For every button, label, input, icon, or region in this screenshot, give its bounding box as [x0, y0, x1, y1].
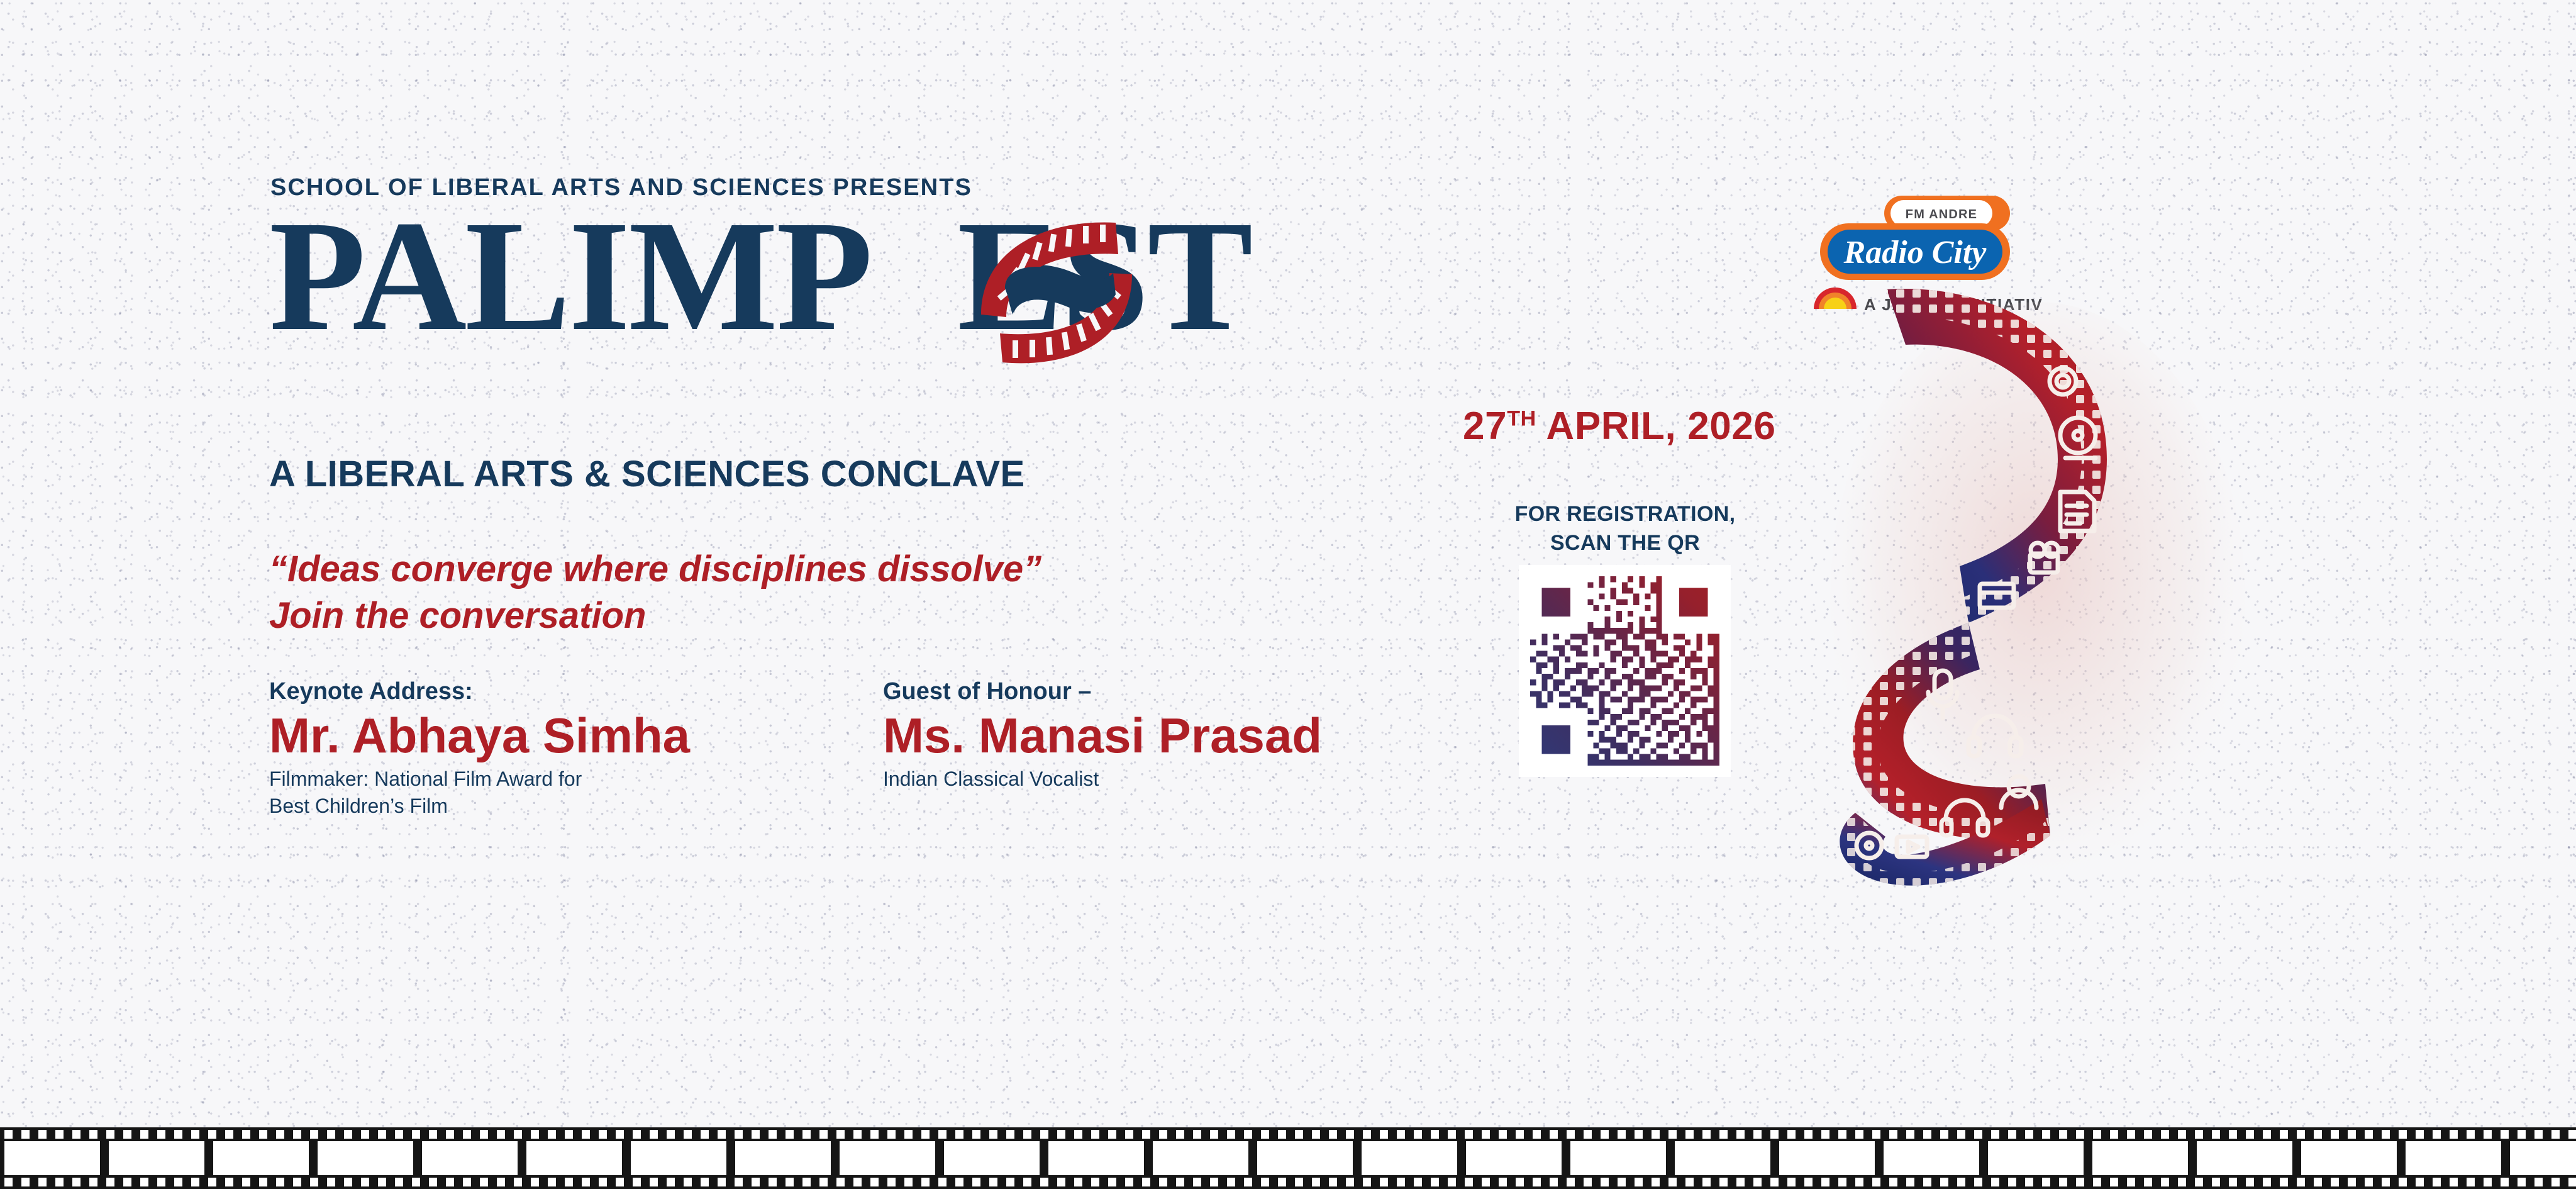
- sponsor-fm-label: FM ANDRE: [1906, 208, 1977, 221]
- keynote-speaker-name: Mr. Abhaya Simha: [269, 709, 690, 763]
- film-strip-top-sprockets: [0, 1130, 2576, 1139]
- registration-qr-code[interactable]: [1519, 565, 1731, 774]
- title-part-one: PALIMP: [269, 187, 871, 364]
- poster-canvas: SCHOOL OF LIBERAL ARTS AND SCIENCES PRES…: [0, 0, 2576, 1189]
- registration-instruction: FOR REGISTRATION, SCAN THE QR: [1512, 500, 1738, 558]
- guest-speaker-description: Indian Classical Vocalist: [883, 766, 1322, 793]
- keynote-speaker-block: Keynote Address: Mr. Abhaya Simha Filmma…: [269, 678, 690, 820]
- title-letter-s-placeholder: S: [871, 187, 957, 364]
- keynote-speaker-description: Filmmaker: National Film Award for Best …: [269, 766, 690, 820]
- tagline-line-1: “Ideas converge where disciplines dissol…: [269, 549, 1041, 589]
- filmstrip-s-icon: [967, 194, 1156, 382]
- registration-line-2: SCAN THE QR: [1512, 529, 1738, 558]
- guest-speaker-name: Ms. Manasi Prasad: [883, 709, 1322, 763]
- event-date-ordinal: TH: [1507, 406, 1536, 430]
- event-subtitle: A LIBERAL ARTS & SCIENCES CONCLAVE: [269, 453, 1025, 495]
- bottom-film-strip: [0, 1127, 2576, 1189]
- film-strip-ribbon: [1811, 271, 2251, 956]
- guest-role-label: Guest of Honour –: [883, 678, 1322, 705]
- event-date-rest: APRIL, 2026: [1536, 405, 1776, 448]
- registration-line-1: FOR REGISTRATION,: [1512, 500, 1738, 529]
- event-tagline: “Ideas converge where disciplines dissol…: [269, 546, 1041, 639]
- guest-of-honour-block: Guest of Honour – Ms. Manasi Prasad Indi…: [883, 678, 1322, 793]
- event-date-day: 27: [1463, 405, 1507, 448]
- event-title-wordmark: PALIMPSEST: [263, 211, 1458, 375]
- film-strip-frames: [0, 1141, 2576, 1175]
- qr-module-mask: [1519, 565, 1731, 777]
- sponsor-brand-name: Radio City: [1843, 235, 1987, 271]
- tagline-line-2: Join the conversation: [269, 593, 1041, 639]
- film-strip-bottom-sprockets: [0, 1178, 2576, 1186]
- event-date: 27TH APRIL, 2026: [1463, 404, 1776, 449]
- keynote-role-label: Keynote Address:: [269, 678, 690, 705]
